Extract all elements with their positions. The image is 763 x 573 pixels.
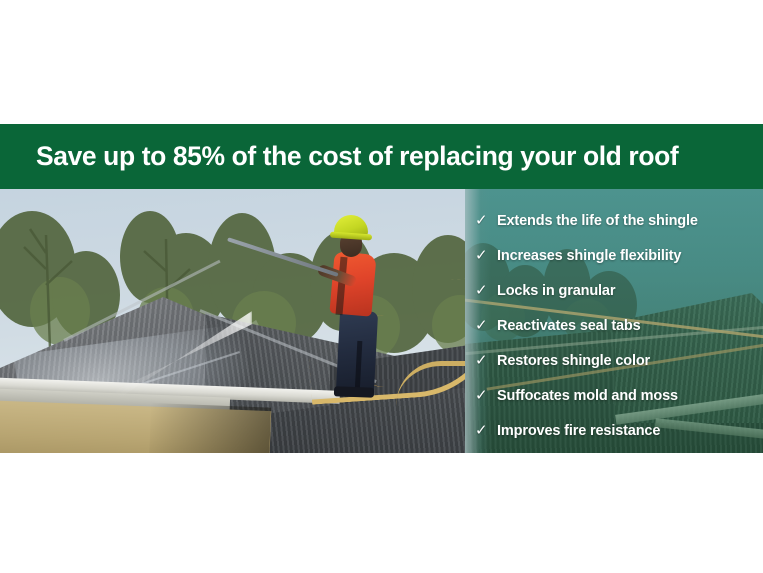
headline-banner: Save up to 85% of the cost of replacing … <box>0 124 763 189</box>
list-item: ✓ Improves fire resistance <box>475 413 763 448</box>
list-item: ✓ Locks in granular <box>475 273 763 308</box>
headline-text: Save up to 85% of the cost of replacing … <box>36 143 678 170</box>
worker-boots <box>334 386 374 397</box>
list-item: ✓ Reactivates seal tabs <box>475 308 763 343</box>
check-icon: ✓ <box>475 283 497 298</box>
list-item-label: Improves fire resistance <box>497 423 660 439</box>
roof-cleaning-photo <box>0 189 470 453</box>
check-icon: ✓ <box>475 423 497 438</box>
list-item-label: Reactivates seal tabs <box>497 318 641 334</box>
check-icon: ✓ <box>475 353 497 368</box>
list-item-label: Suffocates mold and moss <box>497 388 678 404</box>
roof-worker-figure <box>318 211 428 401</box>
list-item: ✓ Increases shingle flexibility <box>475 238 763 273</box>
wall-shadow <box>149 403 271 453</box>
benefits-panel: ✓ Extends the life of the shingle ✓ Incr… <box>465 189 763 453</box>
photo-strip: ✓ Extends the life of the shingle ✓ Incr… <box>0 189 763 453</box>
list-item-label: Increases shingle flexibility <box>497 248 681 264</box>
list-item-label: Extends the life of the shingle <box>497 213 698 229</box>
check-icon: ✓ <box>475 388 497 403</box>
list-item: ✓ Restores shingle color <box>475 343 763 378</box>
check-icon: ✓ <box>475 318 497 333</box>
list-item: ✓ Suffocates mold and moss <box>475 378 763 413</box>
check-icon: ✓ <box>475 213 497 228</box>
list-item-label: Locks in granular <box>497 283 615 299</box>
banner-canvas: Save up to 85% of the cost of replacing … <box>0 0 763 573</box>
list-item: ✓ Extends the life of the shingle <box>475 203 763 238</box>
check-icon: ✓ <box>475 248 497 263</box>
list-item-label: Restores shingle color <box>497 353 650 369</box>
benefits-list: ✓ Extends the life of the shingle ✓ Incr… <box>465 189 763 453</box>
